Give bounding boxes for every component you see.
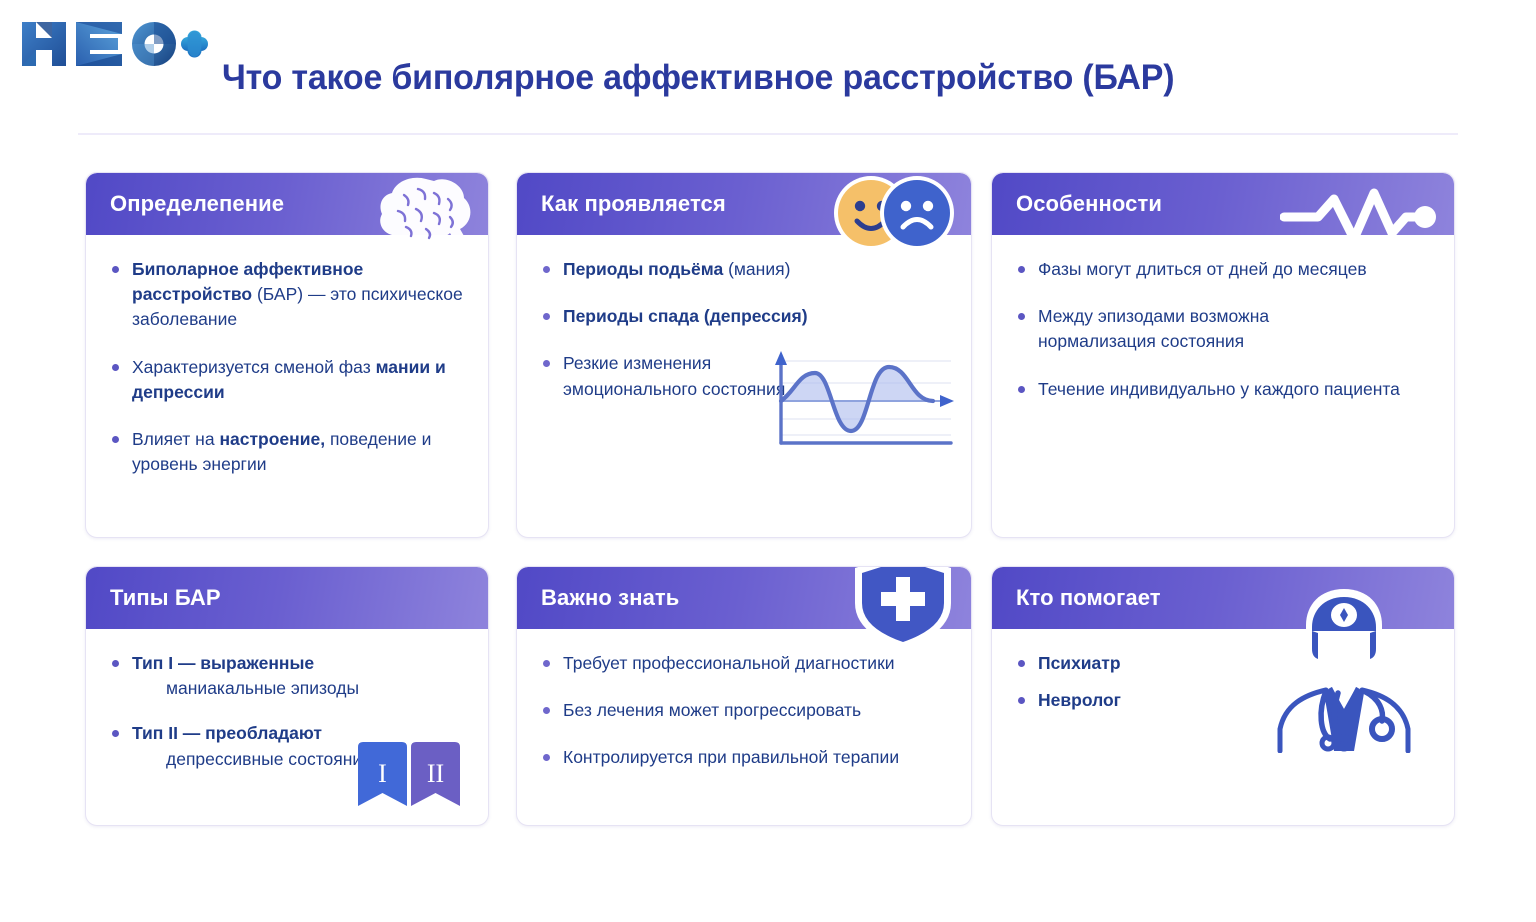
card-header-kto-pomogaet: Кто помогает [992, 567, 1454, 629]
infographic-page: Что такое биполярное аффективное расстро… [0, 0, 1536, 922]
bullet-text-bold: Тип II — преобладают [132, 723, 322, 743]
card-vazhno-znat[interactable]: Важно знать Требует профессиональной диа… [516, 566, 972, 826]
bullet-text-bold: Психиатр [1038, 653, 1121, 673]
bullet-text: (мания) [728, 259, 790, 279]
card-body-kto-pomogaet: Психиатр Невролог [992, 629, 1454, 825]
card-header-vazhno-znat: Важно знать [517, 567, 971, 629]
card-body-kak-proyavlyaetsya: Периоды подьёма (мания) Периоды спада (д… [517, 235, 971, 537]
bullet-text-bold: Тип I — выраженные [132, 653, 314, 673]
bullet-text: Между эпизодами возможна нормализация со… [1038, 306, 1269, 351]
card-title: Особенности [1016, 191, 1162, 217]
card-title: Кто помогает [1016, 585, 1161, 611]
list-item: Фазы могут длиться от дней до месяцев [1016, 257, 1430, 282]
bullet-text-bold: Периоды спада (депрессия) [563, 306, 808, 326]
bullet-text: Течение индивидуально у каждого пациента [1038, 379, 1400, 399]
card-osobennosti[interactable]: Особенности Фазы могут длиться от дней д… [991, 172, 1455, 538]
list-item: Биполарное аффективное расстройство (БАР… [110, 257, 464, 333]
type-2-numeral: II [427, 759, 444, 788]
list-item: Тип I — выраженные маниакальные эпизоды [110, 651, 464, 701]
emotional-swings-chart [765, 347, 955, 449]
list-item: Требует профессиональной диагностики [541, 651, 947, 676]
card-title: Как проявляется [541, 191, 726, 217]
bullet-text-bold: настроение, [219, 429, 325, 449]
card-header-kak-proyavlyaetsya: Как проявляется [517, 173, 971, 235]
card-header-opredelenie: Определепение [86, 173, 488, 235]
list-item: Резкие изменения эмоционального состояни… [541, 351, 791, 401]
list-item: Течение индивидуально у каждого пациента [1016, 377, 1430, 402]
bullet-text: Резкие изменения эмоционального состояни… [563, 353, 785, 398]
list-item: Контролируется при правильной терапии [541, 745, 947, 770]
card-title: Типы БАР [110, 585, 221, 611]
list-item: Влияет на настроение, поведение и уровен… [110, 427, 464, 477]
bullet-text: Без лечения может прогрессировать [563, 700, 861, 720]
type-1-numeral: I [378, 759, 387, 788]
card-body-vazhno-znat: Требует профессиональной диагностики Без… [517, 629, 971, 825]
bullet-subtext: маниакальные эпизоды [132, 676, 464, 701]
card-kak-proyavlyaetsya[interactable]: Как проявляется [516, 172, 972, 538]
card-header-tipy-bar: Типы БАР [86, 567, 488, 629]
list-item: Характеризуется сменой фаз мании и депре… [110, 355, 464, 405]
list-item: Без лечения может прогрессировать [541, 698, 947, 723]
bullet-text: Требует профессиональной диагностики [563, 653, 895, 673]
list-item: Между эпизодами возможна нормализация со… [1016, 304, 1316, 354]
bullet-text: Влияет на [132, 429, 219, 449]
list-item: Периоды спада (депрессия) [541, 304, 841, 329]
card-body-osobennosti: Фазы могут длиться от дней до месяцев Ме… [992, 235, 1454, 537]
bullet-list: Психиатр Невролог [1016, 651, 1430, 713]
type-badges-icon: I II [354, 741, 464, 807]
card-kto-pomogaet[interactable]: Кто помогает [991, 566, 1455, 826]
card-header-osobennosti: Особенности [992, 173, 1454, 235]
list-item: Психиатр [1016, 651, 1430, 676]
card-body-tipy-bar: Тип I — выраженные маниакальные эпизоды … [86, 629, 488, 825]
list-item: Невролог [1016, 688, 1430, 713]
bullet-text-bold: Невролог [1038, 690, 1121, 710]
cards-grid: Определепение [0, 0, 1536, 922]
card-tipy-bar[interactable]: Типы БАР Тип I — выраженные маниакальные… [85, 566, 489, 826]
bullet-text-bold: Периоды подьёма [563, 259, 728, 279]
bullet-text: Контролируется при правильной терапии [563, 747, 899, 767]
card-title: Определепение [110, 191, 284, 217]
card-body-opredelenie: Биполарное аффективное расстройство (БАР… [86, 235, 488, 537]
bullet-text: Фазы могут длиться от дней до месяцев [1038, 259, 1367, 279]
bullet-list: Биполарное аффективное расстройство (БАР… [110, 257, 464, 477]
card-opredelenie[interactable]: Определепение [85, 172, 489, 538]
bullet-list: Фазы могут длиться от дней до месяцев Ме… [1016, 257, 1430, 402]
list-item: Периоды подьёма (мания) [541, 257, 841, 282]
bullet-list: Требует профессиональной диагностики Без… [541, 651, 947, 771]
card-title: Важно знать [541, 585, 679, 611]
bullet-text: Характеризуется сменой фаз [132, 357, 376, 377]
